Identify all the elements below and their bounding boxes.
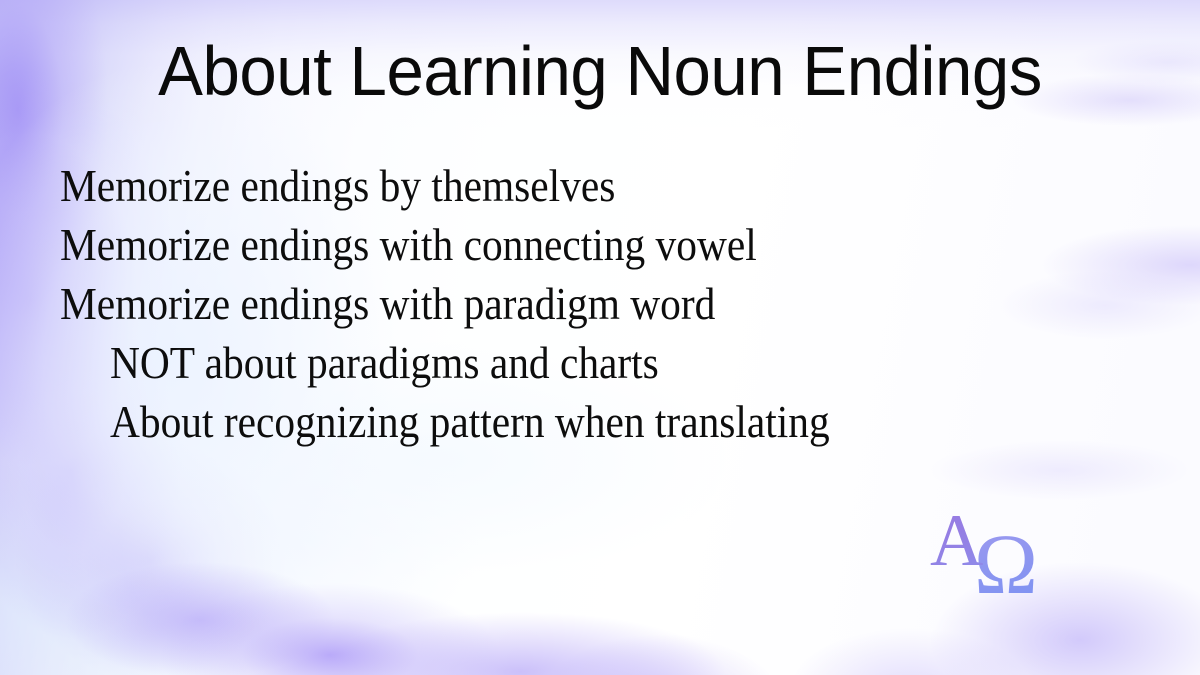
omega-glyph: Ω [974, 516, 1038, 600]
body-line: Memorize endings with paradigm word [60, 274, 1050, 333]
alpha-glyph: Α [930, 500, 983, 582]
body-line: Memorize endings with connecting vowel [60, 215, 1050, 274]
slide-title: About Learning Noun Endings [24, 36, 1176, 106]
alpha-omega-logo: Ω Α [928, 498, 1060, 600]
slide-canvas: About Learning Noun Endings Memorize end… [0, 0, 1200, 675]
body-line: NOT about paradigms and charts [110, 333, 1055, 392]
body-line: Memorize endings by themselves [60, 156, 1050, 215]
body-line: About recognizing pattern when translati… [110, 392, 1055, 451]
slide-body: Memorize endings by themselves Memorize … [60, 156, 1160, 451]
